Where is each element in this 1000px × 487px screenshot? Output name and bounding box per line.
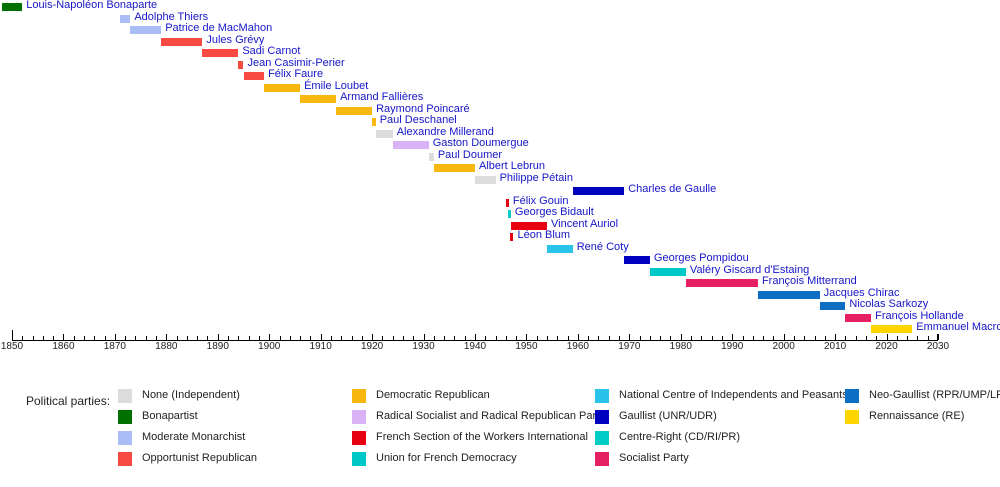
axis-tick-minor — [135, 336, 136, 340]
axis-tick-minor — [300, 336, 301, 340]
axis-tick-minor — [753, 336, 754, 340]
axis-tick-label: 1960 — [567, 341, 589, 352]
axis-tick-label: 1870 — [104, 341, 126, 352]
axis-tick-major — [784, 334, 785, 340]
axis-tick-major — [321, 334, 322, 340]
term-bar[interactable] — [686, 279, 758, 287]
axis-tick-label: 1900 — [258, 341, 280, 352]
axis-tick-minor — [413, 336, 414, 340]
axis-tick-minor — [557, 336, 558, 340]
axis-tick-minor — [238, 336, 239, 340]
term-bar[interactable] — [372, 118, 376, 126]
legend-swatch-icon — [118, 452, 132, 466]
axis-tick-minor — [917, 336, 918, 340]
axis-tick-minor — [845, 336, 846, 340]
axis-tick-minor — [598, 336, 599, 340]
legend-swatch-icon — [595, 389, 609, 403]
axis-tick-label: 1990 — [721, 341, 743, 352]
axis-tick-label: 2020 — [875, 341, 897, 352]
axis-tick-label: 1940 — [464, 341, 486, 352]
axis-tick-major — [732, 334, 733, 340]
axis-tick-label: 1950 — [515, 341, 537, 352]
axis-tick-label: 1970 — [618, 341, 640, 352]
term-bar[interactable] — [547, 245, 573, 253]
axis-tick-minor — [650, 336, 651, 340]
legend-swatch-icon — [118, 410, 132, 424]
axis-tick-label: 2000 — [773, 341, 795, 352]
legend-swatch-icon — [352, 452, 366, 466]
axis-tick-minor — [53, 336, 54, 340]
term-label: Philippe Pétain — [500, 172, 573, 185]
term-bar[interactable] — [624, 256, 650, 264]
term-bar[interactable] — [475, 176, 496, 184]
legend-label: Opportunist Republican — [142, 451, 257, 466]
axis-tick-minor — [743, 336, 744, 340]
axis-tick-minor — [352, 336, 353, 340]
term-bar[interactable] — [508, 210, 511, 218]
axis-tick-minor — [207, 336, 208, 340]
term-bar[interactable] — [573, 187, 624, 195]
legend-label: Neo-Gaullist (RPR/UMP/LR) — [869, 388, 1000, 403]
term-bar[interactable] — [238, 61, 243, 69]
axis-tick-minor — [393, 336, 394, 340]
axis-tick-minor — [228, 336, 229, 340]
term-bar[interactable] — [429, 153, 434, 161]
axis-tick-minor — [928, 336, 929, 340]
legend-swatch-icon — [595, 452, 609, 466]
legend-label: Union for French Democracy — [376, 451, 517, 466]
axis-tick-label: 1980 — [670, 341, 692, 352]
axis-tick-major — [526, 334, 527, 340]
axis-tick-minor — [701, 336, 702, 340]
axis-tick-major — [681, 334, 682, 340]
axis-tick-major — [269, 334, 270, 340]
legend-swatch-icon — [595, 431, 609, 445]
axis-tick-minor — [22, 336, 23, 340]
axis-tick-minor — [94, 336, 95, 340]
axis-tick-minor — [866, 336, 867, 340]
axis-tick-minor — [640, 336, 641, 340]
term-bar[interactable] — [506, 199, 509, 207]
axis-tick-minor — [290, 336, 291, 340]
axis-tick-minor — [362, 336, 363, 340]
axis-tick-minor — [670, 336, 671, 340]
legend-label: French Section of the Workers Internatio… — [376, 430, 588, 445]
axis-tick-minor — [825, 336, 826, 340]
axis-tick-label: 2010 — [824, 341, 846, 352]
axis-tick-minor — [105, 336, 106, 340]
time-axis: 1850186018701880189019001910192019301940… — [0, 330, 1000, 360]
legend-label: Radical Socialist and Radical Republican… — [376, 409, 605, 424]
axis-tick-minor — [619, 336, 620, 340]
axis-tick-major — [372, 334, 373, 340]
term-bar[interactable] — [202, 49, 238, 57]
axis-tick-minor — [146, 336, 147, 340]
term-bar[interactable] — [336, 107, 372, 115]
term-bar[interactable] — [161, 38, 202, 46]
axis-tick-minor — [465, 336, 466, 340]
axis-tick-minor — [125, 336, 126, 340]
axis-tick-minor — [907, 336, 908, 340]
axis-tick-minor — [33, 336, 34, 340]
term-bar[interactable] — [244, 72, 265, 80]
legend-label: Gaullist (UNR/UDR) — [619, 409, 717, 424]
axis-tick-major — [938, 334, 939, 340]
axis-tick-label: 1850 — [1, 341, 23, 352]
term-bar[interactable] — [758, 291, 820, 299]
axis-tick-minor — [341, 336, 342, 340]
term-bar[interactable] — [120, 15, 130, 23]
axis-tick-minor — [434, 336, 435, 340]
axis-tick-minor — [197, 336, 198, 340]
axis-tick-label: 1860 — [52, 341, 74, 352]
axis-tick-major — [115, 334, 116, 340]
axis-tick-minor — [403, 336, 404, 340]
legend-title: Political parties: — [26, 394, 110, 408]
axis-tick-major — [12, 334, 13, 340]
legend-label: Rennaissance (RE) — [869, 409, 964, 424]
axis-tick-minor — [84, 336, 85, 340]
legend-label: Democratic Republican — [376, 388, 490, 403]
axis-tick-label: 1920 — [361, 341, 383, 352]
term-bar[interactable] — [130, 26, 161, 34]
axis-tick-label: 1880 — [155, 341, 177, 352]
axis-tick-minor — [856, 336, 857, 340]
legend: Political parties: None (Independent)Bon… — [0, 386, 1000, 476]
axis-tick-minor — [331, 336, 332, 340]
legend-swatch-icon — [352, 389, 366, 403]
term-bar[interactable] — [2, 3, 23, 11]
term-label: René Coty — [577, 241, 629, 254]
axis-tick-minor — [444, 336, 445, 340]
axis-tick-major — [63, 334, 64, 340]
axis-tick-minor — [516, 336, 517, 340]
axis-tick-major — [578, 334, 579, 340]
legend-label: Centre-Right (CD/RI/PR) — [619, 430, 740, 445]
legend-swatch-icon — [352, 410, 366, 424]
axis-tick-minor — [74, 336, 75, 340]
term-bar[interactable] — [650, 268, 686, 276]
axis-tick-minor — [249, 336, 250, 340]
term-bar[interactable] — [264, 84, 300, 92]
legend-swatch-icon — [845, 389, 859, 403]
axis-tick-minor — [43, 336, 44, 340]
axis-tick-major — [218, 334, 219, 340]
axis-tick-label: 1930 — [412, 341, 434, 352]
axis-tick-minor — [722, 336, 723, 340]
legend-swatch-icon — [118, 431, 132, 445]
axis-tick-minor — [712, 336, 713, 340]
axis-tick-minor — [547, 336, 548, 340]
axis-tick-minor — [876, 336, 877, 340]
axis-tick-minor — [454, 336, 455, 340]
axis-tick-minor — [496, 336, 497, 340]
axis-tick-minor — [773, 336, 774, 340]
axis-tick-minor — [382, 336, 383, 340]
term-bar[interactable] — [376, 130, 393, 138]
axis-tick-major — [166, 334, 167, 340]
axis-tick-minor — [506, 336, 507, 340]
axis-tick-minor — [485, 336, 486, 340]
axis-tick-major — [887, 334, 888, 340]
term-bar[interactable] — [393, 141, 429, 149]
axis-tick-minor — [537, 336, 538, 340]
axis-tick-minor — [310, 336, 311, 340]
axis-tick-label: 1910 — [310, 341, 332, 352]
axis-tick-minor — [794, 336, 795, 340]
legend-label: Moderate Monarchist — [142, 430, 245, 445]
presidents-of-france-timeline-chart: Louis-Napoléon BonaparteAdolphe ThiersPa… — [0, 0, 1000, 487]
axis-tick-label: 1890 — [207, 341, 229, 352]
term-label: Charles de Gaulle — [628, 183, 716, 196]
term-bar[interactable] — [820, 302, 846, 310]
axis-tick-minor — [568, 336, 569, 340]
axis-tick-minor — [588, 336, 589, 340]
term-label: Léon Blum — [517, 229, 570, 242]
legend-swatch-icon — [845, 410, 859, 424]
axis-tick-major — [629, 334, 630, 340]
axis-tick-major — [835, 334, 836, 340]
axis-tick-minor — [177, 336, 178, 340]
legend-label: Socialist Party — [619, 451, 689, 466]
axis-tick-major — [475, 334, 476, 340]
axis-tick-minor — [609, 336, 610, 340]
axis-tick-minor — [187, 336, 188, 340]
legend-label: National Centre of Independents and Peas… — [619, 388, 848, 403]
timeline-plot-area: Louis-Napoléon BonaparteAdolphe ThiersPa… — [0, 0, 1000, 335]
axis-tick-minor — [691, 336, 692, 340]
axis-tick-label: 2030 — [927, 341, 949, 352]
axis-tick-major — [424, 334, 425, 340]
axis-tick-minor — [660, 336, 661, 340]
axis-tick-minor — [815, 336, 816, 340]
axis-tick-minor — [259, 336, 260, 340]
axis-tick-minor — [804, 336, 805, 340]
term-bar[interactable] — [845, 314, 871, 322]
legend-label: None (Independent) — [142, 388, 240, 403]
term-bar[interactable] — [434, 164, 475, 172]
legend-swatch-icon — [595, 410, 609, 424]
term-bar[interactable] — [510, 233, 513, 241]
legend-label: Bonapartist — [142, 409, 198, 424]
axis-tick-minor — [897, 336, 898, 340]
term-bar[interactable] — [300, 95, 336, 103]
axis-tick-minor — [156, 336, 157, 340]
axis-tick-minor — [763, 336, 764, 340]
axis-tick-minor — [280, 336, 281, 340]
legend-swatch-icon — [118, 389, 132, 403]
legend-swatch-icon — [352, 431, 366, 445]
